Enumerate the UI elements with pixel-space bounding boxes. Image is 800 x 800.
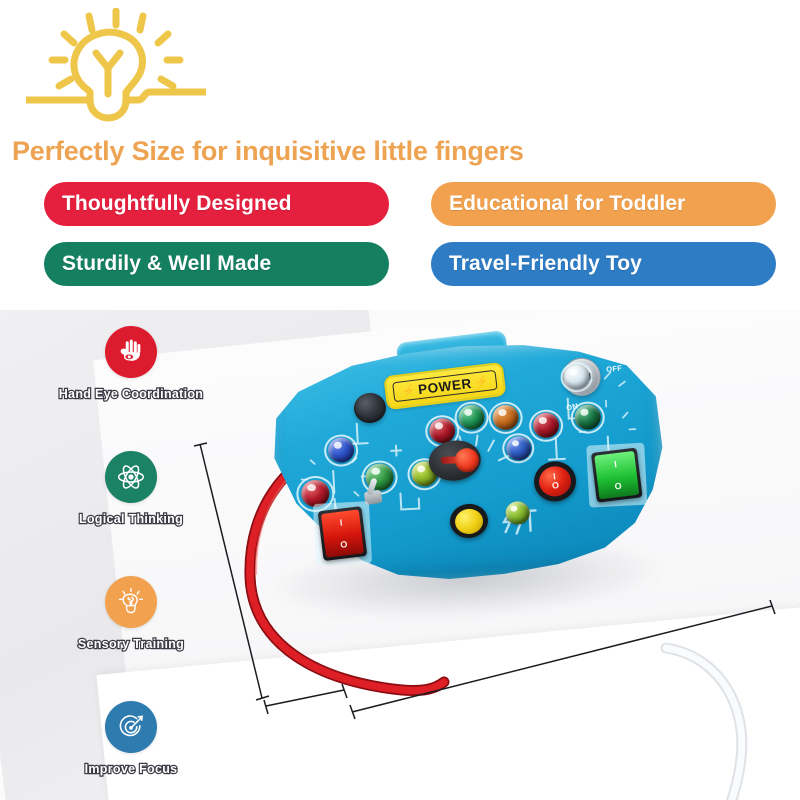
pill-label: Sturdily & Well Made [62,252,271,276]
product-feature-page: Perfectly Size for inquisitive little fi… [0,0,800,800]
hero-section: Perfectly Size for inquisitive little fi… [0,0,800,310]
pill-travel-friendly-toy[interactable]: Travel-Friendly Toy [431,242,776,286]
pill-label: Travel-Friendly Toy [449,252,642,276]
pill-educational-for-toddler[interactable]: Educational for Toddler [431,182,776,226]
lightbulb-icon [26,8,206,126]
pill-label: Thoughtfully Designed [62,192,292,216]
page-headline: Perfectly Size for inquisitive little fi… [12,136,524,167]
pill-label: Educational for Toddler [449,192,685,216]
pill-thoughtfully-designed[interactable]: Thoughtfully Designed [44,182,389,226]
feature-pill-grid: Thoughtfully Designed Educational for To… [44,182,776,286]
pill-sturdily-well-made[interactable]: Sturdily & Well Made [44,242,389,286]
dimension-leader-lines [0,306,800,800]
product-stage: Hand Eye Coordination Logical Thinking [0,306,800,800]
